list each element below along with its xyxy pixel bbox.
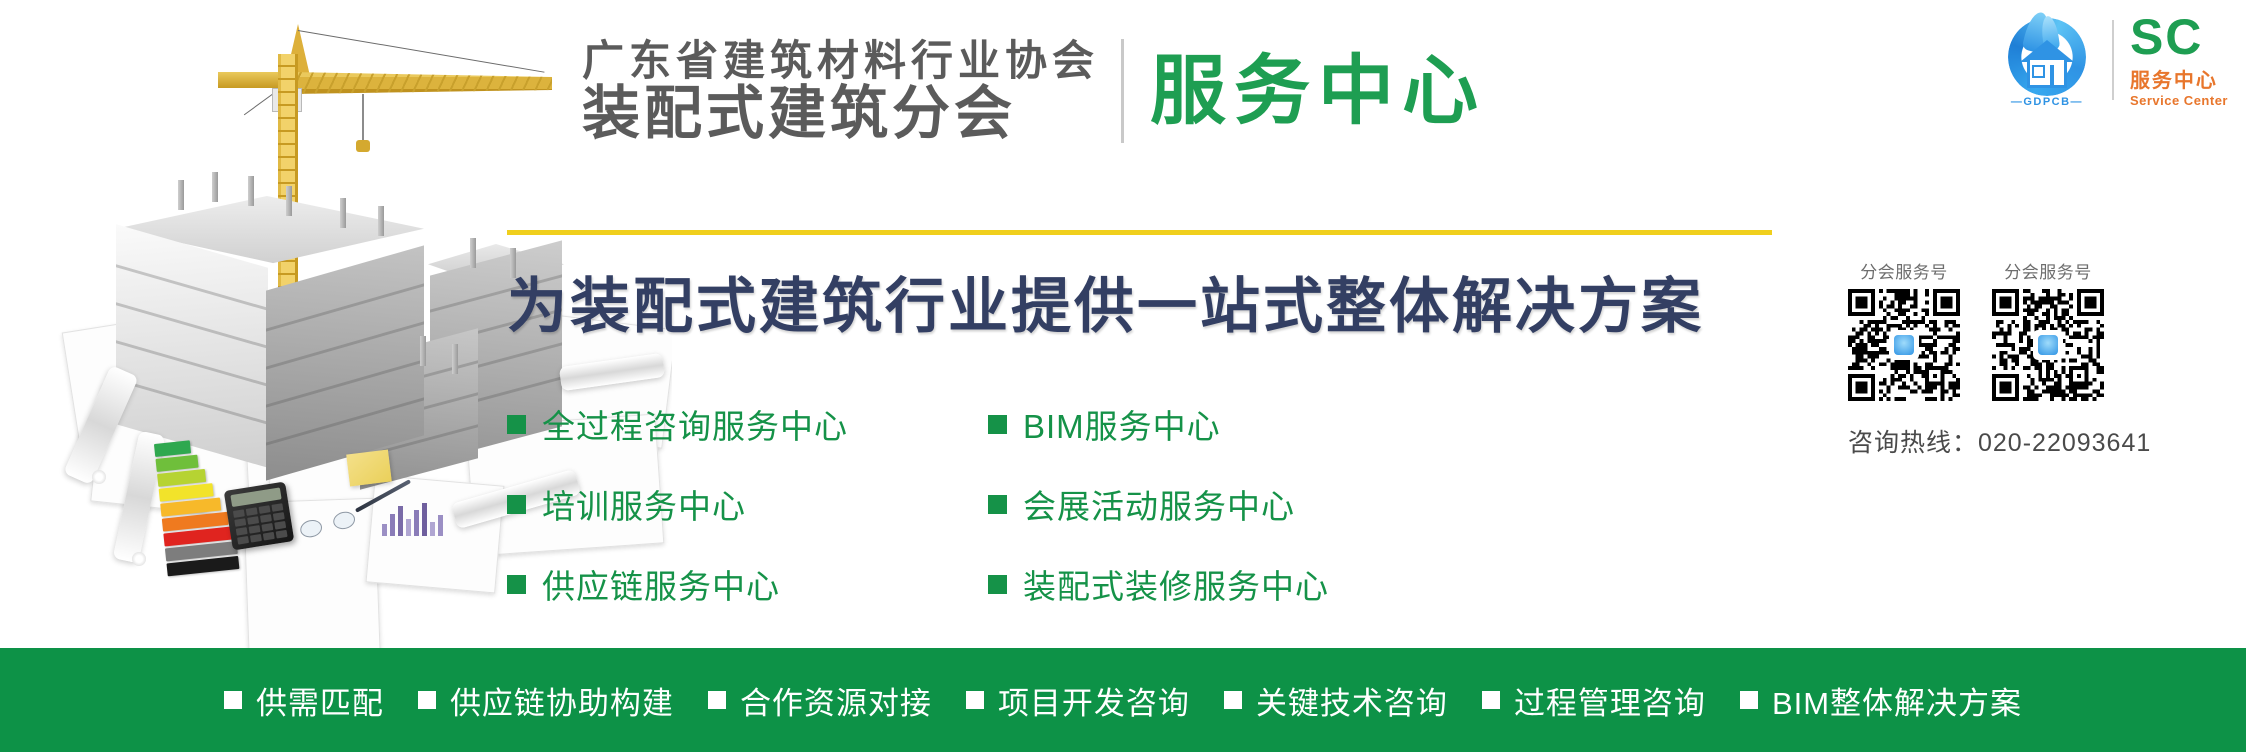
footer-item[interactable]: 关键技术咨询 — [1224, 678, 1448, 723]
house-roof-icon — [2020, 40, 2074, 62]
service-label: 会展活动服务中心 — [1023, 480, 1295, 528]
bar-chart-graphic — [382, 500, 443, 536]
gdpcb-house-flame-icon: —GDPCB— — [1998, 14, 2096, 106]
bullet-square-icon — [418, 691, 436, 709]
footer-item[interactable]: 供需匹配 — [224, 678, 384, 723]
calculator-graphic — [224, 482, 295, 551]
logo-sc-text: SC — [2130, 12, 2228, 62]
service-label: 全过程咨询服务中心 — [542, 400, 848, 448]
footer-label: 关键技术咨询 — [1256, 678, 1448, 723]
content-column: 广东省建筑材料行业协会 装配式建筑分会 服务中心 为装配式建筑行业提供一站式整体… — [672, 0, 2246, 648]
house-icon — [2020, 40, 2074, 88]
footer-item[interactable]: 过程管理咨询 — [1482, 678, 1706, 723]
qr-caption: 分会服务号 — [1848, 258, 1960, 283]
qr-code-image[interactable] — [1848, 289, 1960, 401]
bullet-square-icon — [1482, 691, 1500, 709]
footer-label: 项目开发咨询 — [998, 678, 1190, 723]
headline-slogan: 为装配式建筑行业提供一站式整体解决方案 — [507, 258, 1704, 345]
roll-end-icon — [132, 552, 146, 566]
service-item[interactable]: 供应链服务中心 — [507, 560, 848, 608]
bullet-square-icon — [988, 495, 1007, 514]
footer-item[interactable]: 供应链协助构建 — [418, 678, 674, 723]
qr-item[interactable]: 分会服务号 — [1848, 258, 1960, 401]
bullet-square-icon — [988, 575, 1007, 594]
bullet-square-icon — [224, 691, 242, 709]
bullet-square-icon — [988, 415, 1007, 434]
service-label: 供应链服务中心 — [542, 560, 780, 608]
house-pillar-icon — [2050, 65, 2054, 85]
service-label: BIM服务中心 — [1023, 400, 1221, 448]
sticky-note-graphic — [346, 450, 392, 487]
crane-hook-icon — [356, 140, 370, 152]
rebar-column — [178, 180, 184, 210]
qr-item[interactable]: 分会服务号 — [1992, 258, 2104, 401]
bullet-square-icon — [507, 575, 526, 594]
logo-chinese-text: 服务中心 — [2130, 64, 2228, 93]
title-divider — [1121, 39, 1124, 143]
qr-center-logo-icon — [2033, 330, 2063, 360]
service-item[interactable]: BIM服务中心 — [988, 400, 1329, 448]
rebar-column — [340, 198, 346, 228]
rebar-column — [378, 206, 384, 236]
house-window-icon — [2032, 65, 2045, 78]
qr-row: 分会服务号 分会服务号 — [1848, 258, 2228, 401]
qr-center-logo-icon — [1889, 330, 1919, 360]
bullet-square-icon — [507, 415, 526, 434]
logo-divider — [2112, 20, 2114, 100]
organization-names: 广东省建筑材料行业协会 装配式建筑分会 — [582, 38, 1099, 145]
hotline-text: 咨询热线：020-22093641 — [1848, 423, 2228, 459]
banner-root: 广东省建筑材料行业协会 装配式建筑分会 服务中心 为装配式建筑行业提供一站式整体… — [0, 0, 2246, 752]
rebar-column — [248, 176, 254, 206]
rebar-column — [212, 172, 218, 202]
service-label: 装配式装修服务中心 — [1023, 560, 1329, 608]
footer-label: BIM整体解决方案 — [1772, 678, 2022, 723]
logo-english-text: Service Center — [2130, 93, 2228, 108]
service-item[interactable]: 会展活动服务中心 — [988, 480, 1329, 528]
gdpcb-abbreviation: —GDPCB— — [1998, 96, 2096, 108]
qr-code-image[interactable] — [1992, 289, 2104, 401]
footer-item[interactable]: 项目开发咨询 — [966, 678, 1190, 723]
qr-caption: 分会服务号 — [1992, 258, 2104, 283]
crane-hook-line-icon — [362, 94, 364, 146]
service-column-2: BIM服务中心 会展活动服务中心 装配式装修服务中心 — [988, 400, 1329, 608]
footer-label: 供需匹配 — [256, 678, 384, 723]
branch-name: 装配式建筑分会 — [582, 83, 1099, 144]
bullet-square-icon — [1224, 691, 1242, 709]
service-item[interactable]: 装配式装修服务中心 — [988, 560, 1329, 608]
service-list: 全过程咨询服务中心 培训服务中心 供应链服务中心 BIM服务中心 — [507, 400, 1329, 608]
logo-wordmark: SC 服务中心 Service Center — [2130, 12, 2228, 108]
organization-title-row: 广东省建筑材料行业协会 装配式建筑分会 服务中心 — [582, 38, 1486, 145]
rebar-column — [470, 238, 476, 268]
bullet-square-icon — [507, 495, 526, 514]
association-name: 广东省建筑材料行业协会 — [582, 38, 1099, 83]
footer-label: 合作资源对接 — [740, 678, 932, 723]
crane-jib-icon — [290, 72, 552, 94]
service-item[interactable]: 全过程咨询服务中心 — [507, 400, 848, 448]
footer-items: 供需匹配 供应链协助构建 合作资源对接 项目开发咨询 关键技术咨询 过程管理咨询 — [224, 678, 2022, 723]
brand-logo[interactable]: —GDPCB— SC 服务中心 Service Center — [1998, 12, 2228, 108]
yellow-divider-rule — [507, 230, 1772, 235]
service-center-title: 服务中心 — [1150, 52, 1486, 132]
rebar-column — [420, 336, 426, 366]
qr-contact-block: 分会服务号 分会服务号 咨询热线：020-22093641 — [1848, 258, 2228, 459]
service-item[interactable]: 培训服务中心 — [507, 480, 848, 528]
crane-wire-icon — [298, 30, 545, 73]
service-column-1: 全过程咨询服务中心 培训服务中心 供应链服务中心 — [507, 400, 848, 608]
service-label: 培训服务中心 — [542, 480, 746, 528]
bullet-square-icon — [708, 691, 726, 709]
footer-item[interactable]: BIM整体解决方案 — [1740, 678, 2022, 723]
bullet-square-icon — [1740, 691, 1758, 709]
footer-label: 供应链协助构建 — [450, 678, 674, 723]
footer-label: 过程管理咨询 — [1514, 678, 1706, 723]
rebar-column — [452, 344, 458, 374]
rebar-column — [286, 186, 292, 216]
roll-end-icon — [92, 470, 106, 484]
bullet-square-icon — [966, 691, 984, 709]
footer-item[interactable]: 合作资源对接 — [708, 678, 932, 723]
footer-tag-bar: 供需匹配 供应链协助构建 合作资源对接 项目开发咨询 关键技术咨询 过程管理咨询 — [0, 648, 2246, 752]
